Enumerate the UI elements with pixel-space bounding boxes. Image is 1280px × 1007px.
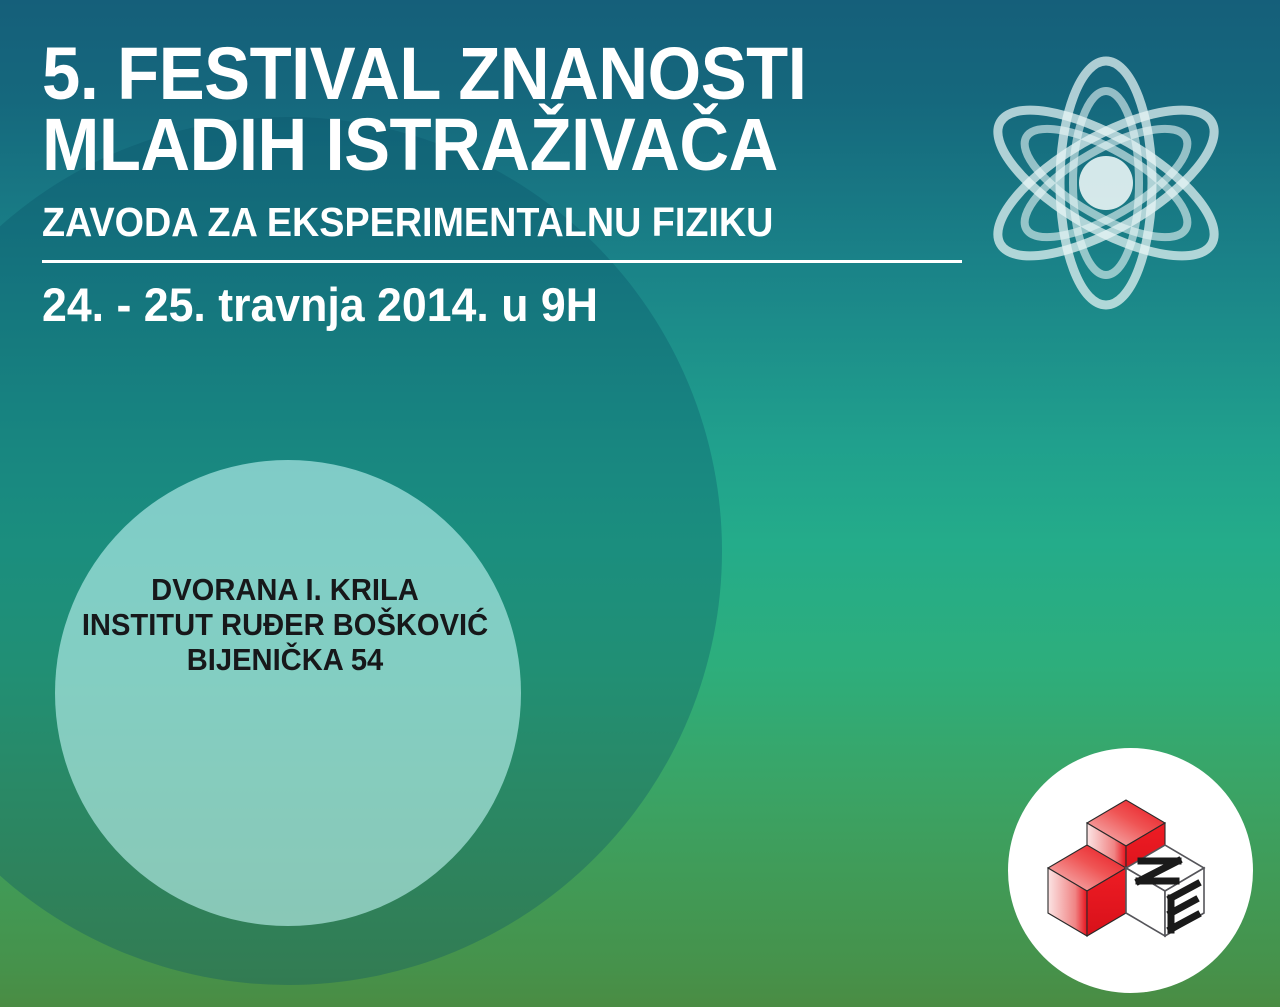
atom-icon — [975, 52, 1237, 314]
poster-subtitle: ZAVODA ZA EKSPERIMENTALNU FIZIKU — [42, 202, 916, 243]
poster-dateline: 24. - 25. travnja 2014. u 9H — [42, 281, 945, 328]
logo-cube-right-ze — [1126, 845, 1204, 936]
venue-address-block: DVORANA I. KRILA INSTITUT RUĐER BOŠKOVIĆ… — [69, 572, 501, 677]
decorative-circle-inner — [55, 460, 521, 926]
poster-title-line-1: 5. FESTIVAL ZNANOSTI — [42, 38, 926, 109]
poster-canvas: 5. FESTIVAL ZNANOSTI MLADIH ISTRAŽIVAČA … — [0, 0, 1280, 1007]
venue-line-3: BIJENIČKA 54 — [69, 642, 501, 677]
zef-cubes-logo — [1008, 748, 1253, 993]
divider-rule — [42, 260, 962, 263]
poster-title-line-2: MLADIH ISTRAŽIVAČA — [42, 109, 926, 180]
headline-block: 5. FESTIVAL ZNANOSTI MLADIH ISTRAŽIVAČA … — [42, 38, 992, 328]
venue-line-2: INSTITUT RUĐER BOŠKOVIĆ — [69, 607, 501, 642]
atom-nucleus — [1079, 156, 1133, 210]
venue-line-1: DVORANA I. KRILA — [69, 572, 501, 607]
